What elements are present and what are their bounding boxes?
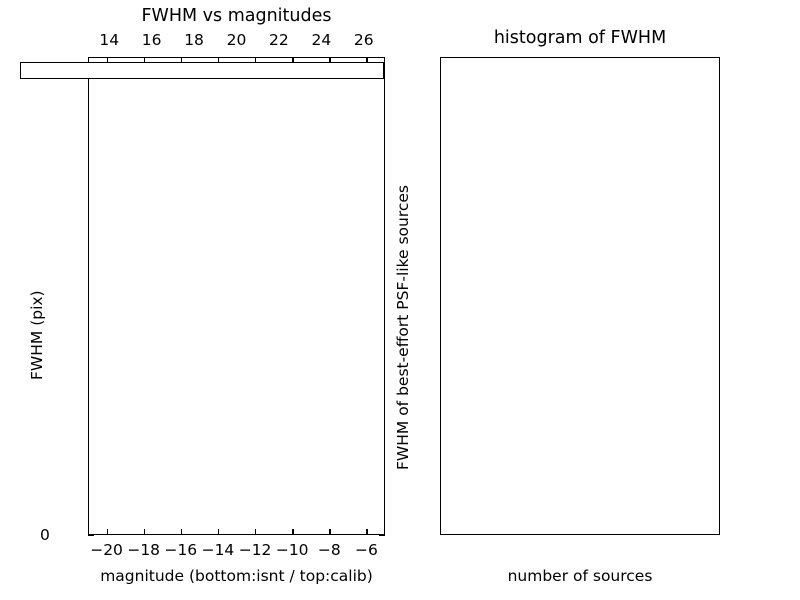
left-xtick-label: −6 — [355, 541, 378, 559]
left-xtop-tick-label: 16 — [142, 31, 162, 49]
left-xtick-label: −18 — [127, 541, 160, 559]
left-xtick-label: −12 — [239, 541, 272, 559]
left-axes — [88, 57, 385, 535]
left-xtick-label: −8 — [318, 541, 341, 559]
tick-x-bottom — [292, 529, 293, 535]
right-axes — [440, 57, 720, 535]
tick-x-bottom — [218, 529, 219, 535]
left-xtop-tick-label: 18 — [184, 31, 204, 49]
scatter-plot-area — [89, 58, 384, 534]
tick-x-bottom — [107, 529, 108, 535]
histogram-plot-area — [441, 58, 719, 534]
left-xtop-tick-label: 22 — [269, 31, 289, 49]
figure-canvas: FWHM vs magnitudes FWHM (pix) magnitude … — [0, 0, 800, 600]
tick-x-bottom — [366, 529, 367, 535]
tick-y-right — [379, 535, 385, 536]
legend-box — [20, 62, 384, 79]
left-xtop-tick-label: 26 — [354, 31, 374, 49]
left-xtop-tick-label: 24 — [311, 31, 331, 49]
left-panel-xlabel: magnitude (bottom:isnt / top:calib) — [88, 567, 385, 585]
left-xtop-tick-label: 20 — [227, 31, 247, 49]
left-xtick-label: −20 — [90, 541, 123, 559]
left-panel-title: FWHM vs magnitudes — [88, 6, 385, 26]
left-ytick-label: 0 — [40, 526, 50, 544]
tick-x-bottom — [255, 529, 256, 535]
left-panel-ylabel: FWHM (pix) — [28, 290, 46, 380]
left-xtick-label: −10 — [276, 541, 309, 559]
left-xtick-label: −16 — [164, 541, 197, 559]
tick-x-bottom — [144, 529, 145, 535]
tick-x-bottom — [329, 529, 330, 535]
right-panel-xlabel: number of sources — [440, 567, 720, 585]
right-panel-ylabel: FWHM of best-effort PSF-like sources — [394, 185, 412, 470]
left-xtick-label: −14 — [202, 541, 235, 559]
left-xtop-tick-label: 14 — [99, 31, 119, 49]
tick-x-bottom — [181, 529, 182, 535]
right-panel-title: histogram of FWHM — [440, 28, 720, 48]
tick-y-left — [88, 535, 94, 536]
